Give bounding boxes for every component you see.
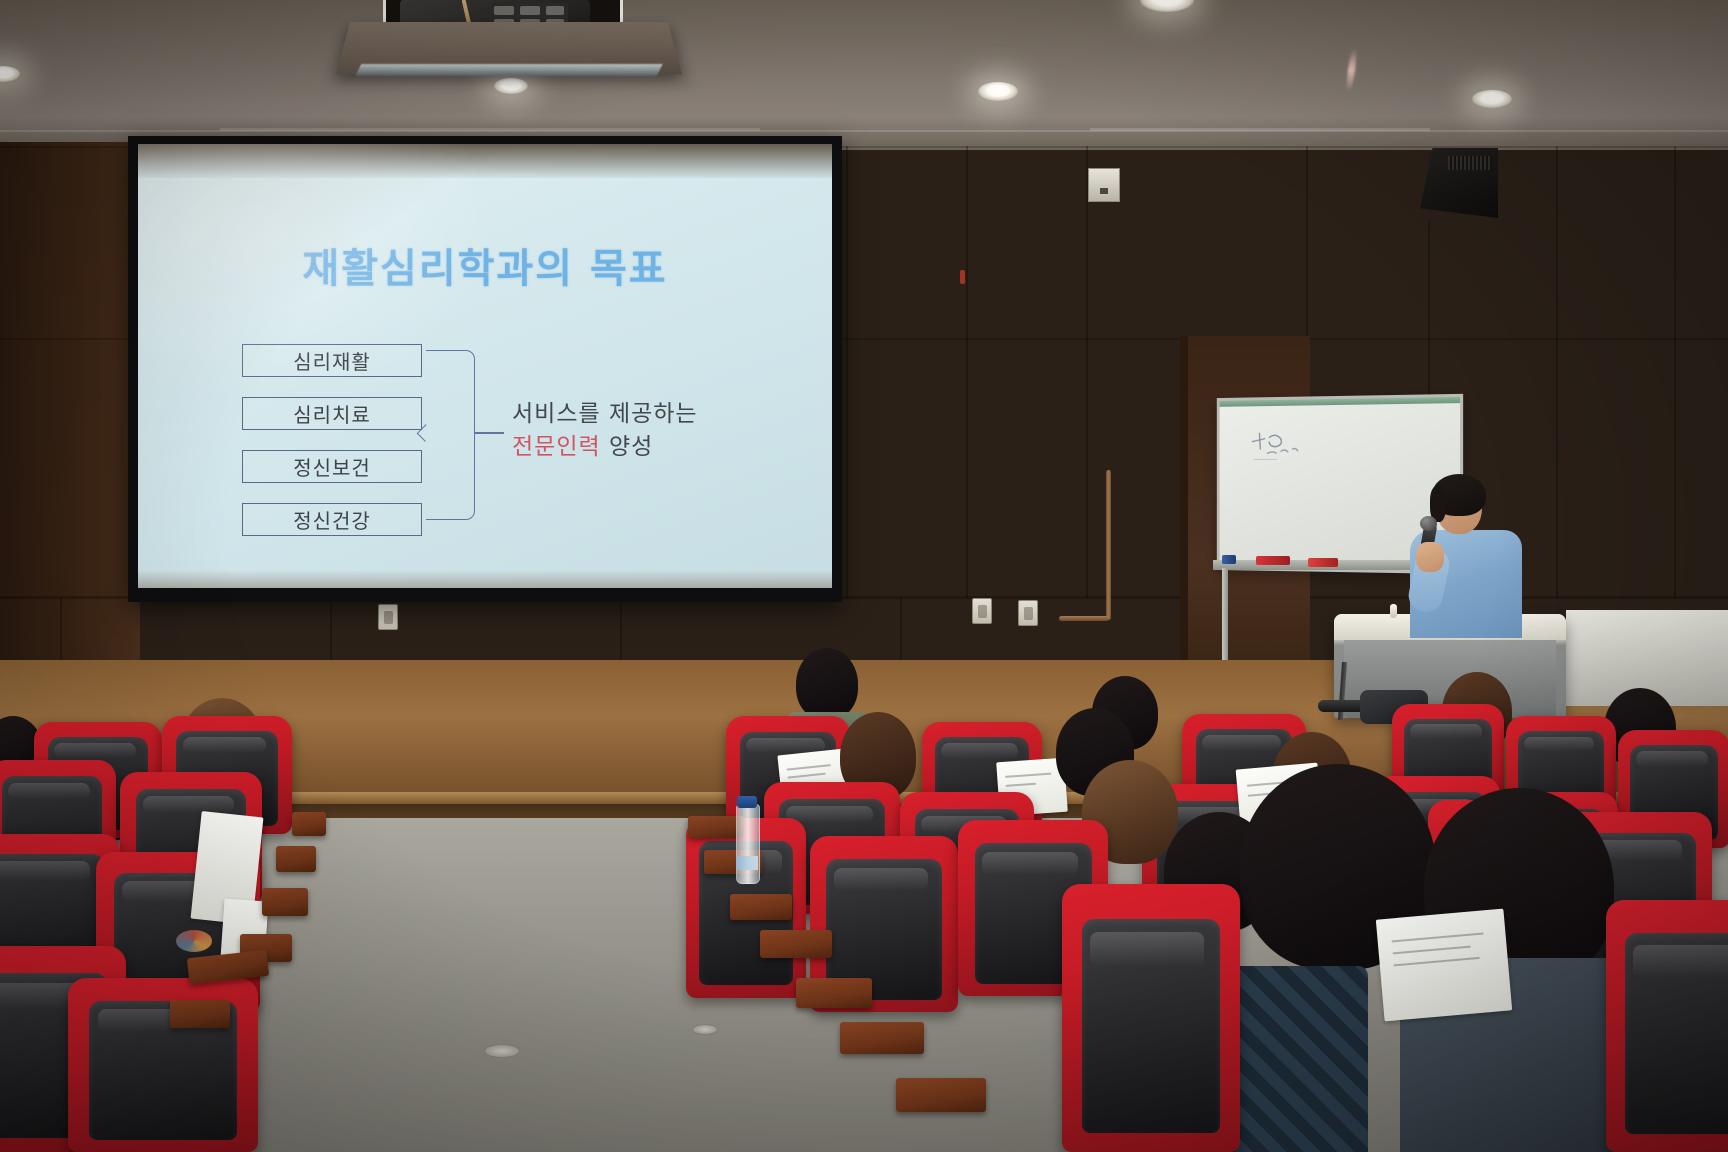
slide-surface: 재활심리학과의 목표 심리재활 심리치료 정신보건 정신건강 서비스를 제공하는… (138, 144, 832, 588)
slide-outcome-text: 서비스를 제공하는 전문인력 양성 (512, 398, 698, 465)
wall-indicator-strip (960, 270, 965, 284)
whiteboard-eraser[interactable] (1308, 558, 1338, 567)
whiteboard-handwriting (1248, 429, 1308, 463)
ceiling-seam (220, 128, 760, 131)
seat-armrest (796, 978, 872, 1008)
seat-armrest (276, 846, 316, 872)
floor-vent (692, 1024, 718, 1035)
podium-gooseneck-mic (1390, 604, 1397, 618)
ceiling-light (1472, 90, 1512, 108)
slide-box: 심리치료 (242, 397, 422, 430)
floor-vent (484, 1044, 520, 1058)
slide-outcome-line2: 전문인력 양성 (512, 431, 698, 464)
slide-outcome-line1: 서비스를 제공하는 (512, 398, 698, 431)
whiteboard-top-rail (1220, 397, 1460, 407)
slide-outcome-tail: 양성 (601, 434, 654, 460)
whiteboard-marker[interactable] (1256, 556, 1290, 565)
projector-mount-rim (355, 64, 662, 76)
seat-armrest (262, 888, 308, 916)
handout-paper (1376, 909, 1512, 1022)
seat-armrest (840, 1022, 924, 1054)
wall-conduit (1106, 470, 1111, 620)
wall-outlet (972, 598, 992, 624)
slide-box-list: 심리재활 심리치료 정신보건 정신건강 (242, 344, 422, 556)
seat (1062, 884, 1240, 1152)
ceiling-seam (1090, 128, 1430, 131)
slide-outcome-accent: 전문인력 (512, 434, 601, 460)
bottle-cap (737, 796, 757, 808)
presenter (1402, 478, 1532, 638)
small-object-on-armrest (176, 930, 212, 952)
screen-bottom-shade (138, 570, 832, 588)
slide-box: 심리재활 (242, 344, 422, 377)
slide-box: 정신보건 (242, 450, 422, 483)
seat-armrest (896, 1078, 986, 1112)
ceiling-light (978, 82, 1018, 101)
microphone-head (1420, 516, 1437, 531)
speaker-grill (1448, 156, 1492, 170)
seat-armrest (730, 894, 792, 920)
slide-brace (426, 350, 475, 520)
ceiling-light (494, 78, 528, 94)
water-bottle (736, 804, 760, 884)
wall-control-led (1100, 188, 1108, 194)
wall-conduit-bend (1059, 616, 1109, 621)
lecture-hall-photo: 재활심리학과의 목표 심리재활 심리치료 정신보건 정신건강 서비스를 제공하는… (0, 0, 1728, 1152)
projection-screen: 재활심리학과의 목표 심리재활 심리치료 정신보건 정신건강 서비스를 제공하는… (128, 136, 842, 602)
wall-outlet (1018, 600, 1038, 626)
whiteboard-marker[interactable] (1222, 555, 1236, 564)
seat-armrest (760, 930, 832, 958)
screen-top-shadow (138, 144, 832, 178)
slide-box: 정신건강 (242, 503, 422, 536)
seat-armrest (292, 812, 326, 836)
slide-title: 재활심리학과의 목표 (138, 236, 832, 294)
bottle-label (736, 856, 758, 870)
seat-armrest (170, 1000, 230, 1028)
audience-head (796, 648, 858, 720)
presenter-hand (1416, 542, 1444, 572)
wall-control-panel[interactable] (1088, 168, 1120, 202)
slide-brace-stem (474, 432, 504, 434)
wall-outlet (378, 604, 398, 630)
door-frame (1180, 336, 1188, 716)
seat (1606, 900, 1728, 1152)
